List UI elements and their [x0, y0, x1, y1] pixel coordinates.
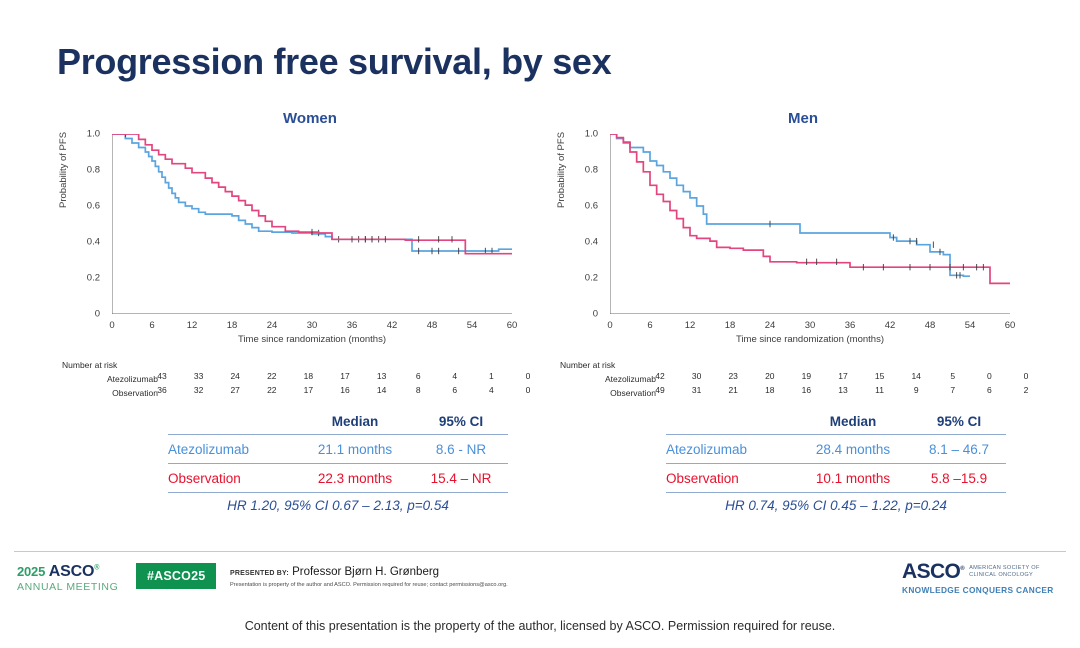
risk-value: 36 [157, 385, 166, 396]
risk-value: 42 [655, 371, 664, 382]
stats-header-row: Median 95% CI [168, 408, 508, 434]
hazard-ratio-men: HR 0.74, 95% CI 0.45 – 1.22, p=0.24 [666, 493, 1006, 519]
y-tick-label: 0.2 [585, 273, 598, 284]
asco-logo-top: ASCO® AMERICAN SOCIETY OF CLINICAL ONCOL… [902, 561, 1054, 582]
y-tick-label: 1.0 [585, 129, 598, 140]
risk-row-label: Atezolizumab [558, 374, 660, 385]
risk-value: 6 [452, 385, 457, 396]
y-axis-ticks: 1.00.80.60.40.20 [60, 134, 106, 314]
stats-row-name: Atezolizumab [168, 442, 296, 457]
asco-sub-line-1: AMERICAN SOCIETY OF [969, 565, 1040, 572]
risk-value: 17 [838, 371, 847, 382]
risk-value: 49 [655, 385, 664, 396]
presented-by-line: PRESENTED BY: Professor Bjørn H. Grønber… [230, 566, 508, 578]
risk-value: 21 [728, 385, 737, 396]
risk-row-label: Observation [558, 388, 660, 399]
page-title: Progression free survival, by sex [57, 41, 611, 83]
risk-value: 32 [194, 385, 203, 396]
risk-value: 24 [230, 371, 239, 382]
risk-value: 5 [950, 371, 955, 382]
meeting-subtitle: ANNUAL MEETING [17, 582, 118, 593]
stats-table-men: Median 95% CI Atezolizumab 28.4 months 8… [666, 408, 1006, 519]
x-tick-label: 54 [467, 320, 478, 331]
asco-annual-meeting-logo: 2025 ASCO® ANNUAL MEETING [17, 564, 118, 593]
risk-value: 16 [802, 385, 811, 396]
presenter-name: Professor Bjørn H. Grønberg [292, 566, 439, 578]
risk-value: 6 [416, 371, 421, 382]
risk-row-values: 493121181613119762 [660, 385, 1026, 396]
risk-table-women: Number at risk Atezolizumab 433324221817… [60, 360, 530, 399]
risk-value: 7 [950, 385, 955, 396]
risk-value: 30 [692, 371, 701, 382]
x-tick-label: 48 [427, 320, 438, 331]
risk-row-atezolizumab: Atezolizumab 4230232019171514500 [558, 371, 1028, 385]
risk-value: 4 [452, 371, 457, 382]
asco-tagline: KNOWLEDGE CONQUERS CANCER [902, 586, 1054, 594]
x-tick-label: 30 [805, 320, 816, 331]
asco-mark: ASCO [49, 563, 94, 580]
risk-value: 22 [267, 371, 276, 382]
panel-title-women: Women [60, 108, 560, 130]
x-tick-label: 24 [765, 320, 776, 331]
risk-value: 18 [304, 371, 313, 382]
x-tick-label: 42 [387, 320, 398, 331]
x-tick-label: 30 [307, 320, 318, 331]
panel-women: Women Probability of PFS 1.00.80.60.40.2… [60, 108, 560, 538]
stats-header-row: Median 95% CI [666, 408, 1006, 434]
risk-value: 27 [230, 385, 239, 396]
x-tick-label: 24 [267, 320, 278, 331]
stats-row-ci: 5.8 –15.9 [912, 471, 1006, 486]
x-tick-label: 6 [149, 320, 154, 331]
x-tick-label: 48 [925, 320, 936, 331]
stats-header-ci: 95% CI [912, 414, 1006, 429]
stats-header-ci: 95% CI [414, 414, 508, 429]
slide-caption: Content of this presentation is the prop… [0, 619, 1080, 633]
stats-table-women: Median 95% CI Atezolizumab 21.1 months 8… [168, 408, 508, 519]
risk-value: 19 [802, 371, 811, 382]
risk-value: 15 [875, 371, 884, 382]
risk-value: 43 [157, 371, 166, 382]
footer-divider [14, 551, 1066, 552]
hashtag-badge: #ASCO25 [136, 563, 216, 589]
risk-row-values: 433324221817136410 [162, 371, 528, 382]
panel-title-men: Men [548, 108, 1048, 130]
y-tick-label: 0.8 [585, 165, 598, 176]
risk-value: 13 [377, 371, 386, 382]
risk-value: 0 [1024, 371, 1029, 382]
asco-mark: ASCO® [902, 561, 964, 582]
risk-value: 17 [340, 371, 349, 382]
risk-value: 17 [304, 385, 313, 396]
risk-value: 18 [765, 385, 774, 396]
x-tick-label: 36 [347, 320, 358, 331]
risk-row-values: 363227221716148640 [162, 385, 528, 396]
panel-men: Men Probability of PFS 1.00.80.60.40.20 … [548, 108, 1048, 538]
x-tick-label: 60 [1005, 320, 1016, 331]
risk-row-observation: Observation 363227221716148640 [60, 385, 530, 399]
x-tick-label: 18 [227, 320, 238, 331]
x-axis-ticks: 06121824303642485460 [112, 314, 512, 334]
risk-value: 0 [987, 371, 992, 382]
stats-row-atezolizumab: Atezolizumab 21.1 months 8.6 - NR [168, 435, 508, 463]
y-axis-ticks: 1.00.80.60.40.20 [558, 134, 604, 314]
risk-value: 33 [194, 371, 203, 382]
y-tick-label: 0.2 [87, 273, 100, 284]
risk-value: 4 [489, 385, 494, 396]
stats-row-ci: 8.6 - NR [414, 442, 508, 457]
y-tick-label: 1.0 [87, 129, 100, 140]
x-tick-label: 12 [187, 320, 198, 331]
y-tick-label: 0.4 [585, 237, 598, 248]
risk-row-label: Observation [60, 388, 162, 399]
chart-women: Probability of PFS 1.00.80.60.40.20 0612… [60, 134, 530, 366]
risk-value: 14 [377, 385, 386, 396]
stats-row-observation: Observation 22.3 months 15.4 – NR [168, 464, 508, 492]
presented-by-label: PRESENTED BY: [230, 570, 289, 577]
chart-men: Probability of PFS 1.00.80.60.40.20 0612… [558, 134, 1028, 366]
y-tick-label: 0.6 [87, 201, 100, 212]
risk-row-atezolizumab: Atezolizumab 433324221817136410 [60, 371, 530, 385]
plot-area-men [610, 134, 1010, 314]
risk-value: 22 [267, 385, 276, 396]
risk-value: 0 [526, 371, 531, 382]
risk-row-label: Atezolizumab [60, 374, 162, 385]
risk-value: 16 [340, 385, 349, 396]
stats-row-median: 10.1 months [794, 471, 912, 486]
plot-area-women [112, 134, 512, 314]
x-axis-label: Time since randomization (months) [112, 334, 512, 345]
stats-row-name: Observation [168, 471, 296, 486]
x-axis-label: Time since randomization (months) [610, 334, 1010, 345]
x-tick-label: 6 [647, 320, 652, 331]
risk-table-men: Number at risk Atezolizumab 423023201917… [558, 360, 1028, 399]
x-tick-label: 12 [685, 320, 696, 331]
risk-value: 1 [489, 371, 494, 382]
slide-root: Progression free survival, by sex Women … [0, 0, 1080, 648]
asco-sub-line-2: CLINICAL ONCOLOGY [969, 572, 1040, 579]
risk-value: 0 [526, 385, 531, 396]
asco-society-subtitle: AMERICAN SOCIETY OF CLINICAL ONCOLOGY [969, 565, 1040, 579]
stats-row-ci: 15.4 – NR [414, 471, 508, 486]
stats-header-median: Median [794, 414, 912, 429]
risk-row-values: 4230232019171514500 [660, 371, 1026, 382]
stats-row-ci: 8.1 – 46.7 [912, 442, 1006, 457]
x-tick-label: 54 [965, 320, 976, 331]
risk-row-observation: Observation 493121181613119762 [558, 385, 1028, 399]
y-tick-label: 0.8 [87, 165, 100, 176]
risk-value: 9 [914, 385, 919, 396]
meeting-year: 2025 [17, 564, 45, 579]
asco-org-logo: ASCO® AMERICAN SOCIETY OF CLINICAL ONCOL… [902, 561, 1054, 594]
risk-value: 13 [838, 385, 847, 396]
risk-table-header: Number at risk [62, 360, 530, 371]
risk-value: 14 [911, 371, 920, 382]
stats-header-median: Median [296, 414, 414, 429]
risk-value: 20 [765, 371, 774, 382]
stats-row-median: 22.3 months [296, 471, 414, 486]
y-tick-label: 0 [593, 309, 598, 320]
x-tick-label: 36 [845, 320, 856, 331]
risk-value: 8 [416, 385, 421, 396]
stats-row-name: Observation [666, 471, 794, 486]
risk-value: 11 [875, 385, 884, 396]
x-tick-label: 18 [725, 320, 736, 331]
stats-row-median: 21.1 months [296, 442, 414, 457]
presenter-disclaimer: Presentation is property of the author a… [230, 582, 508, 588]
stats-row-atezolizumab: Atezolizumab 28.4 months 8.1 – 46.7 [666, 435, 1006, 463]
x-tick-label: 0 [109, 320, 114, 331]
trademark-icon: ® [94, 565, 99, 572]
x-tick-label: 0 [607, 320, 612, 331]
y-tick-label: 0.4 [87, 237, 100, 248]
risk-table-header: Number at risk [560, 360, 1028, 371]
presenter-block: PRESENTED BY: Professor Bjørn H. Grønber… [230, 566, 508, 588]
x-tick-label: 60 [507, 320, 518, 331]
x-tick-label: 42 [885, 320, 896, 331]
stats-row-name: Atezolizumab [666, 442, 794, 457]
stats-row-observation: Observation 10.1 months 5.8 –15.9 [666, 464, 1006, 492]
x-axis-ticks: 06121824303642485460 [610, 314, 1010, 334]
risk-value: 23 [728, 371, 737, 382]
asco-meeting-wordmark: 2025 ASCO® [17, 564, 118, 580]
y-tick-label: 0.6 [585, 201, 598, 212]
stats-row-median: 28.4 months [794, 442, 912, 457]
risk-value: 31 [692, 385, 701, 396]
hazard-ratio-women: HR 1.20, 95% CI 0.67 – 2.13, p=0.54 [168, 493, 508, 519]
y-tick-label: 0 [95, 309, 100, 320]
risk-value: 6 [987, 385, 992, 396]
trademark-icon: ® [960, 566, 964, 572]
risk-value: 2 [1024, 385, 1029, 396]
